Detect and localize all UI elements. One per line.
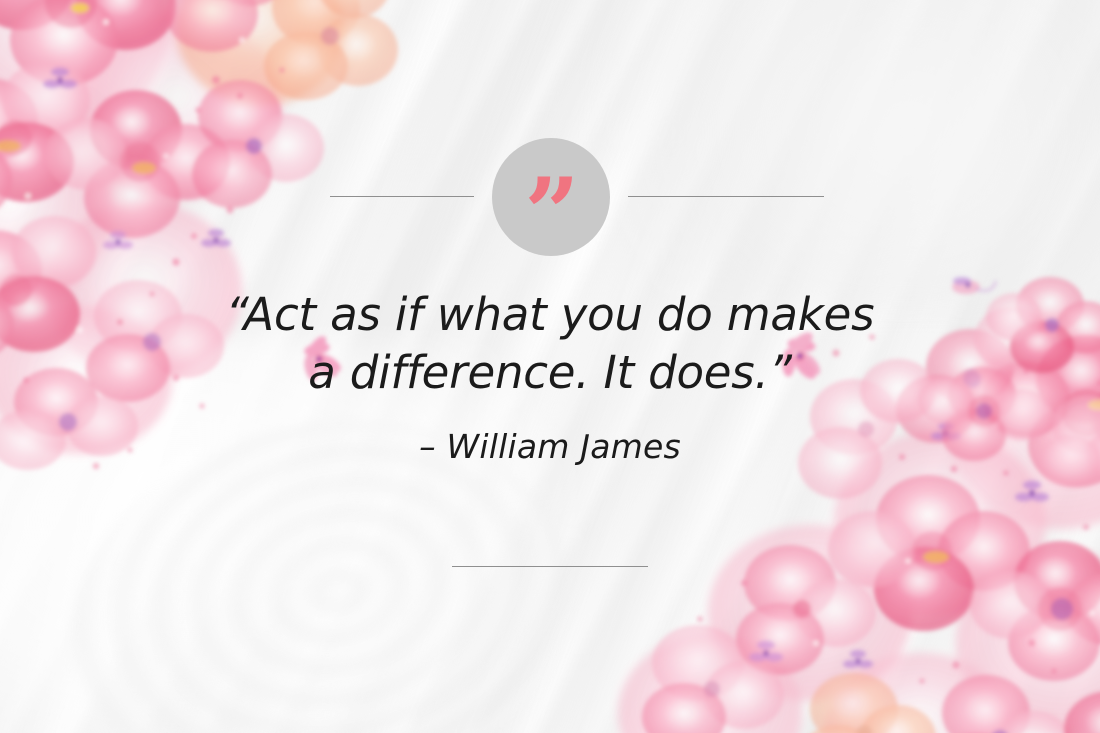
quote-block: “Act as if what you do makes a differenc…: [0, 286, 1100, 466]
quote-line-2: a difference. It does.”: [0, 344, 1100, 402]
divider-left: [330, 196, 474, 197]
quote-text: “Act as if what you do makes a differenc…: [0, 286, 1100, 401]
quotation-mark-icon: ”: [524, 166, 577, 262]
divider-bottom: [452, 566, 648, 567]
background-highlight-right: [605, 0, 1100, 308]
quote-author: – William James: [0, 427, 1100, 466]
quote-card-canvas: ” “Act as if what you do makes a differe…: [0, 0, 1100, 733]
divider-right: [628, 196, 824, 197]
quotation-mark-badge: ”: [492, 138, 610, 256]
quote-line-1: “Act as if what you do makes: [0, 286, 1100, 344]
